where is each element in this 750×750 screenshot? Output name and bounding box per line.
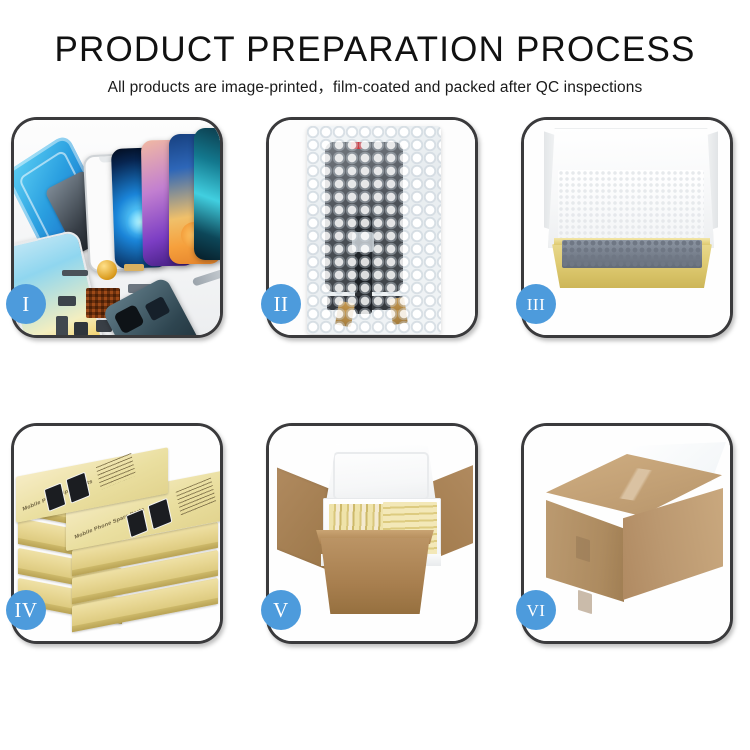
step-badge-2: II xyxy=(261,284,301,324)
retail-box-spec-lines xyxy=(96,453,136,490)
carton-tape-upper xyxy=(576,536,590,562)
steps-grid: I II III xyxy=(0,110,750,670)
step-card-5[interactable]: V xyxy=(266,423,478,644)
retail-box-phone-image xyxy=(44,482,67,512)
retail-box-spec-lines xyxy=(176,478,217,517)
flex-cable-pad xyxy=(352,232,374,252)
grey-foam-padding xyxy=(562,240,702,268)
carton-tape-lower xyxy=(578,590,592,614)
step-card-6[interactable]: VI xyxy=(521,423,733,644)
small-component-part xyxy=(56,316,68,335)
step-badge-1: I xyxy=(6,284,46,324)
step-card-1[interactable]: I xyxy=(11,117,223,338)
gold-connector-part xyxy=(124,264,144,271)
retail-box-phone-image xyxy=(148,498,173,530)
retail-box-phone-image xyxy=(66,472,91,504)
page-title: PRODUCT PREPARATION PROCESS xyxy=(0,30,750,70)
step-card-4[interactable]: Mobile Phone Spare Parts Mobile Phone Sp… xyxy=(11,423,223,644)
page-header: PRODUCT PREPARATION PROCESS All products… xyxy=(0,0,750,99)
flex-cable-part xyxy=(62,270,88,276)
step-badge-4: IV xyxy=(6,590,46,630)
red-label-tab xyxy=(351,142,362,149)
phone-screen-teal xyxy=(194,128,220,260)
page-subtitle: All products are image-printed，film-coat… xyxy=(0,77,750,99)
small-component-part xyxy=(58,296,76,306)
step-card-3[interactable]: III xyxy=(521,117,733,338)
step-card-2[interactable]: II xyxy=(266,117,478,338)
small-component-part xyxy=(74,322,88,335)
step-badge-3: III xyxy=(516,284,556,324)
step-badge-5: V xyxy=(261,590,301,630)
step-badge-6: VI xyxy=(516,590,556,630)
carton-body xyxy=(313,538,437,614)
retail-box-phone-image xyxy=(126,509,149,539)
vibration-motor-part xyxy=(97,260,117,280)
